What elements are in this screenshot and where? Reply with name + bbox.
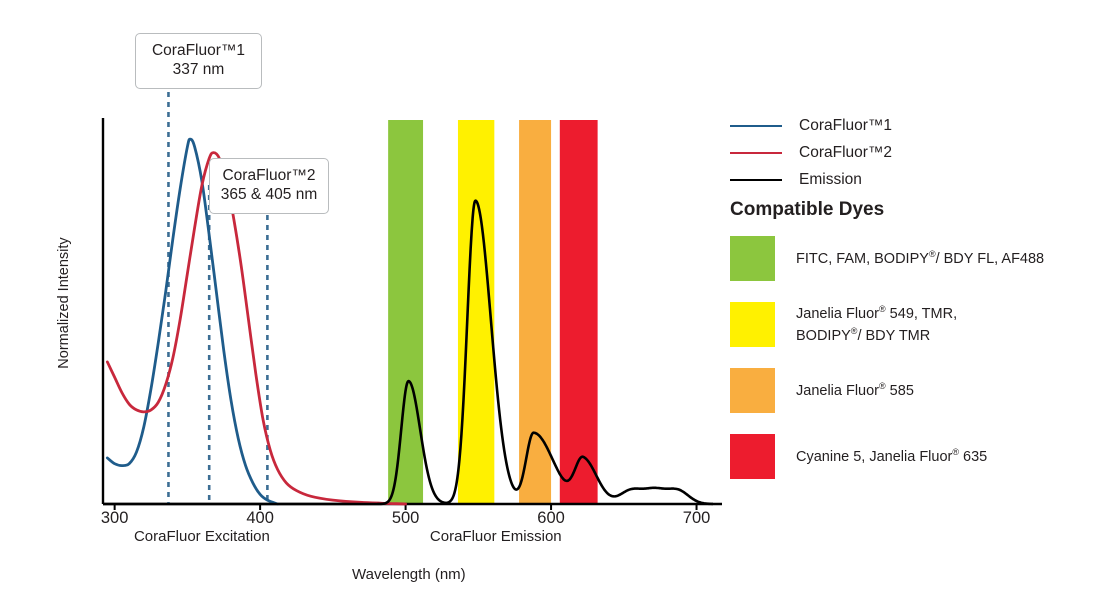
x-axis-sublabel-emission: CoraFluor Emission (401, 528, 591, 545)
x-tick-label-500: 500 (376, 509, 436, 528)
yellow-band (458, 120, 494, 504)
dye-row-3: Cyanine 5, Janelia Fluor® 635 (730, 434, 1100, 479)
green-band (388, 120, 423, 504)
compatible-dyes-title: Compatible Dyes (730, 199, 884, 221)
dye-label: Cyanine 5, Janelia Fluor® 635 (796, 446, 987, 467)
callout-corafluor1-line1: CoraFluor™1 (146, 41, 251, 60)
compatible-dyes-list: FITC, FAM, BODIPY®/ BDY FL, AF488Janelia… (730, 236, 1100, 500)
dye-label: FITC, FAM, BODIPY®/ BDY FL, AF488 (796, 248, 1044, 269)
x-tick-label-600: 600 (521, 509, 581, 528)
callout-corafluor2: CoraFluor™2 365 & 405 nm (209, 158, 329, 214)
dye-color-swatch (730, 302, 775, 347)
legend-item-label: CoraFluor™1 (799, 117, 892, 135)
legend-item-label: CoraFluor™2 (799, 144, 892, 162)
callout-corafluor1-line2: 337 nm (146, 60, 251, 79)
x-axis-sublabel-excitation: CoraFluor Excitation (107, 528, 297, 545)
callout-corafluor1: CoraFluor™1 337 nm (135, 33, 262, 89)
x-tick-label-300: 300 (85, 509, 145, 528)
dye-row-1: Janelia Fluor® 549, TMR,BODIPY®/ BDY TMR (730, 302, 1100, 347)
dye-label-line: FITC, FAM, BODIPY®/ BDY FL, AF488 (796, 248, 1044, 269)
legend-item-0: CoraFluor™1 (730, 112, 892, 139)
dye-color-swatch (730, 368, 775, 413)
dye-label-line: BODIPY®/ BDY TMR (796, 325, 957, 346)
dye-label: Janelia Fluor® 549, TMR,BODIPY®/ BDY TMR (796, 303, 957, 346)
callout-corafluor2-line2: 365 & 405 nm (220, 185, 318, 204)
series-legend: CoraFluor™1CoraFluor™2Emission (730, 112, 892, 193)
x-axis-title: Wavelength (nm) (352, 566, 466, 583)
legend-swatch-line-icon (730, 125, 782, 127)
legend-item-2: Emission (730, 166, 892, 193)
figure-root: CoraFluor™1 337 nm CoraFluor™2 365 & 405… (0, 0, 1110, 612)
dye-row-2: Janelia Fluor® 585 (730, 368, 1100, 413)
red-band (560, 120, 598, 504)
x-tick-label-700: 700 (667, 509, 727, 528)
legend-item-1: CoraFluor™2 (730, 139, 892, 166)
dye-color-swatch (730, 236, 775, 281)
callout-corafluor2-line1: CoraFluor™2 (220, 166, 318, 185)
dye-label-line: Janelia Fluor® 585 (796, 380, 914, 401)
dye-color-swatch (730, 434, 775, 479)
dye-label: Janelia Fluor® 585 (796, 380, 914, 401)
dye-label-line: Janelia Fluor® 549, TMR, (796, 303, 957, 324)
legend-swatch-line-icon (730, 179, 782, 181)
dye-label-line: Cyanine 5, Janelia Fluor® 635 (796, 446, 987, 467)
y-axis-title: Normalized Intensity (56, 223, 72, 383)
x-tick-label-400: 400 (230, 509, 290, 528)
legend-item-label: Emission (799, 171, 862, 189)
dye-row-0: FITC, FAM, BODIPY®/ BDY FL, AF488 (730, 236, 1100, 281)
legend-swatch-line-icon (730, 152, 782, 154)
